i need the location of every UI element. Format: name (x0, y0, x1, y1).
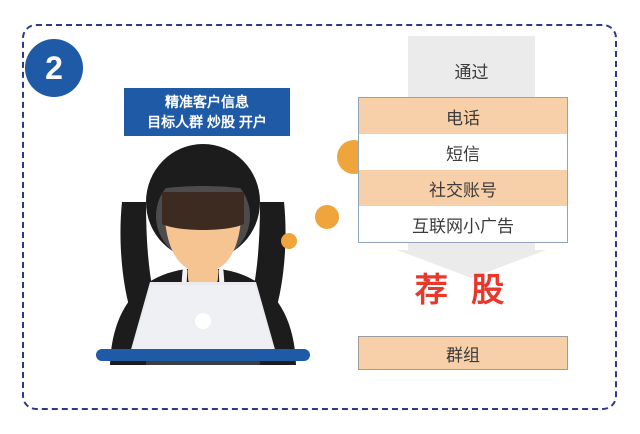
through-label: 通过 (408, 58, 535, 83)
group-box: 群组 (358, 336, 568, 370)
headline-stock-recommendation: 荐 股 (358, 272, 568, 308)
orange-dot-small (281, 233, 297, 249)
step-number-badge: 2 (25, 39, 83, 97)
caption-line-2: 目标人群 炒股 开户 (147, 112, 267, 132)
channel-row: 社交账号 (359, 170, 567, 206)
target-info-caption: 精准客户信息 目标人群 炒股 开户 (124, 88, 290, 136)
channel-row: 互联网小广告 (359, 206, 567, 242)
channel-list: 电话 短信 社交账号 互联网小广告 (358, 97, 568, 243)
caption-line-1: 精准客户信息 (165, 92, 249, 112)
hooded-hacker-illustration (88, 140, 318, 365)
infographic-canvas: 2 精准客户信息 目标人群 炒股 开户 (0, 0, 640, 434)
channel-row: 短信 (359, 134, 567, 170)
orange-dot-medium (315, 205, 339, 229)
channel-row: 电话 (359, 98, 567, 134)
